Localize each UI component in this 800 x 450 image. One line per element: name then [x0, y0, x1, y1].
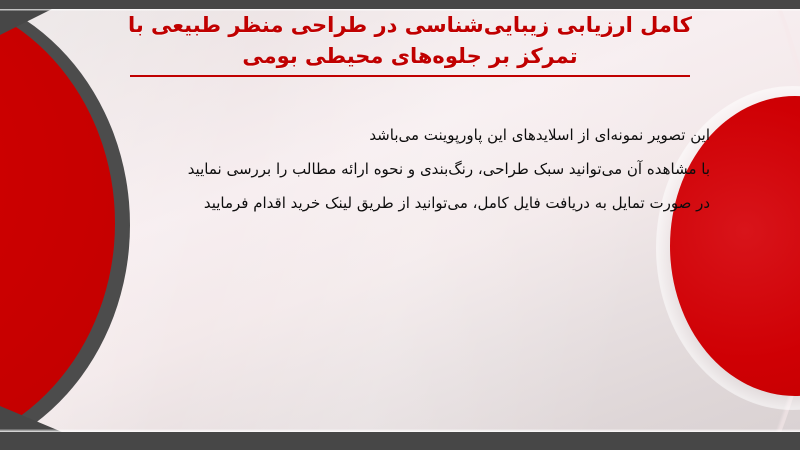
body-line-1: این تصویر نمونه‌ای از اسلایدهای این پاور…: [90, 118, 710, 152]
slide-title-line-2: تمرکز بر جلوه‌های محیطی بومی: [110, 41, 710, 72]
slide-title: کامل ارزیابی زیبایی‌شناسی در طراحی منظر …: [110, 10, 710, 72]
bottom-bar-highlight: [0, 429, 800, 432]
bottom-bar: [0, 432, 800, 450]
slide-canvas: کامل ارزیابی زیبایی‌شناسی در طراحی منظر …: [0, 0, 800, 450]
body-line-2: با مشاهده آن می‌توانید سبک طراحی، رنگ‌بن…: [90, 152, 710, 186]
title-underline-rule: [130, 75, 690, 77]
body-line-3: در صورت تمایل به دریافت فایل کامل، می‌تو…: [90, 186, 710, 220]
slide-title-line-1: کامل ارزیابی زیبایی‌شناسی در طراحی منظر …: [110, 10, 710, 41]
top-bar: [0, 0, 800, 9]
slide-body: این تصویر نمونه‌ای از اسلایدهای این پاور…: [90, 118, 710, 220]
